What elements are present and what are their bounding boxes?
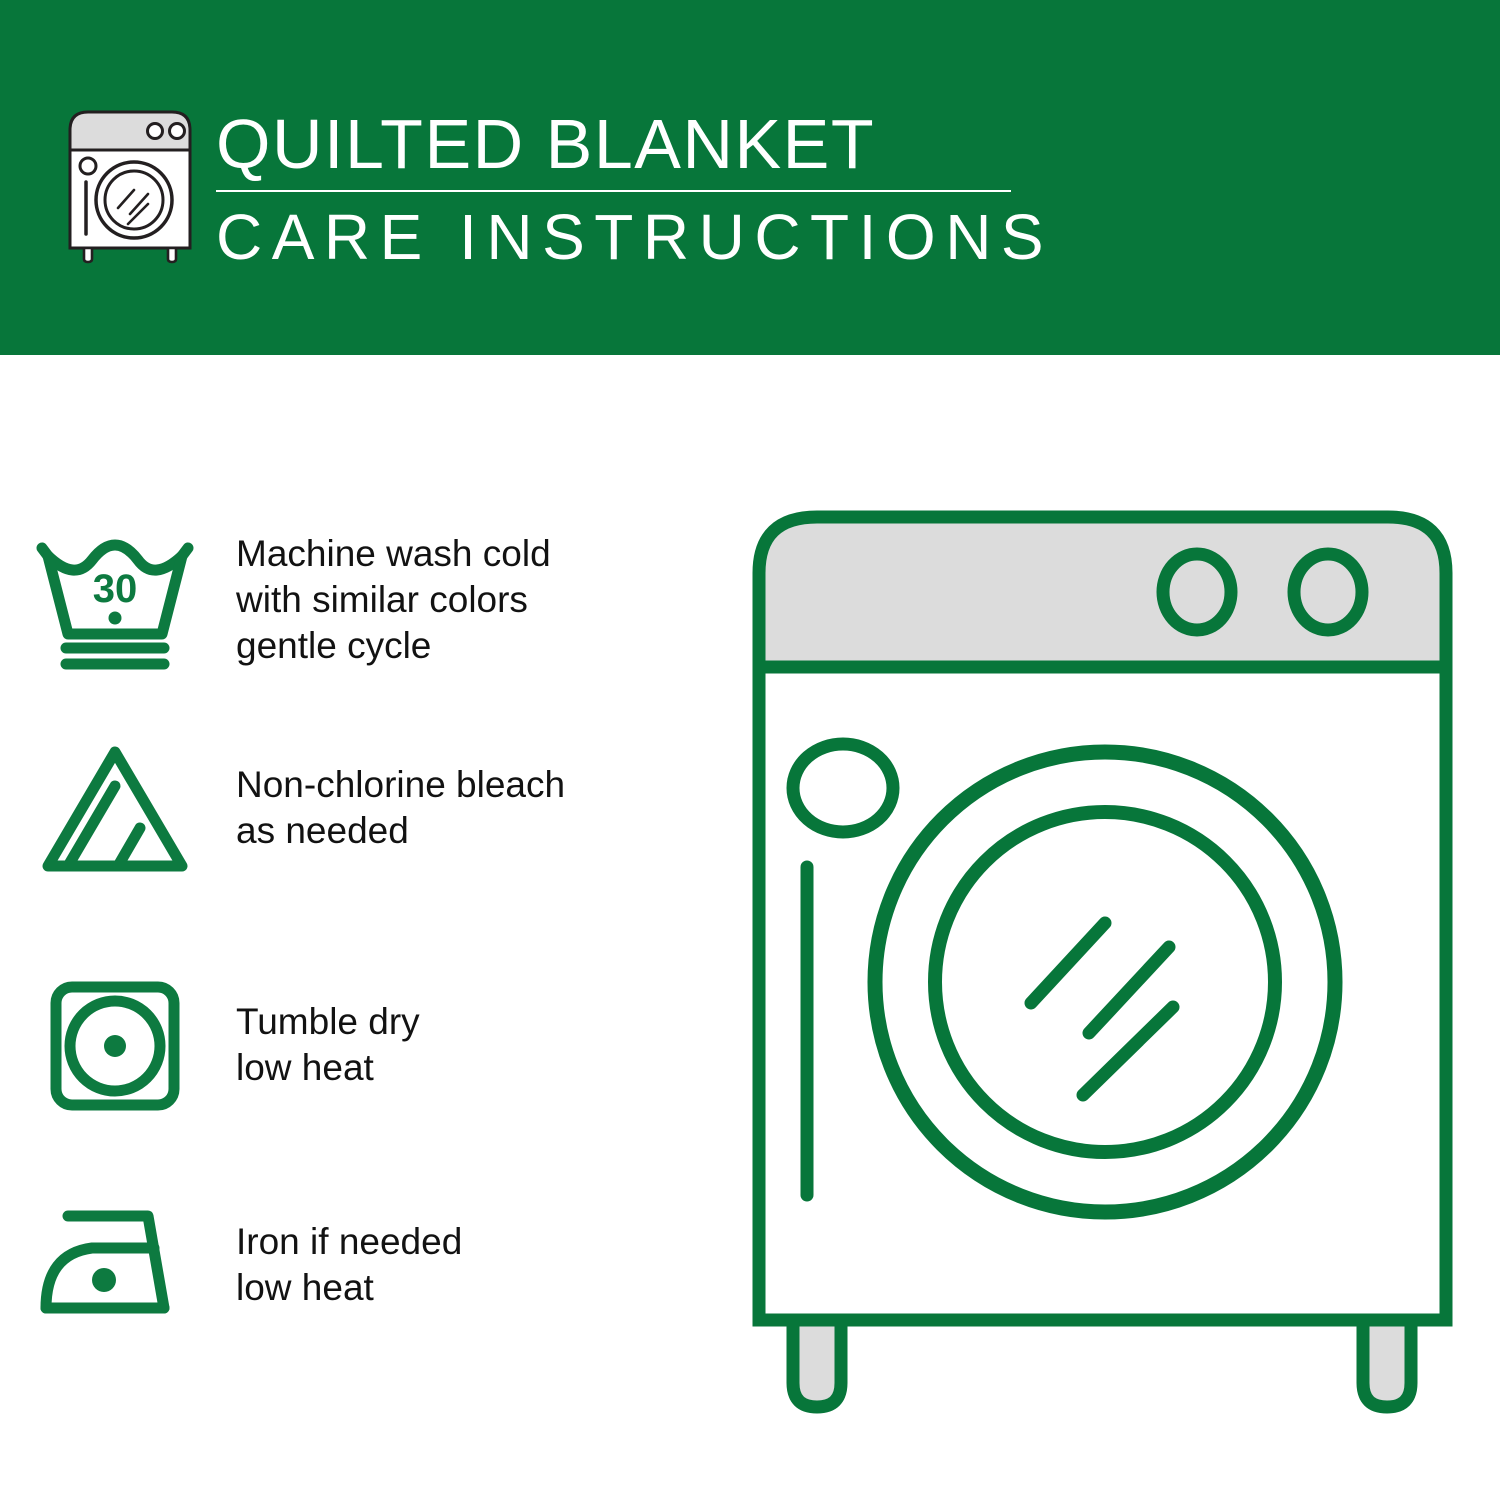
care-label: Non-chlorine bleach as needed	[230, 762, 565, 854]
wash-tub-30-icon: 30	[0, 530, 230, 670]
washing-machine-icon	[62, 104, 198, 264]
svg-text:30: 30	[93, 567, 138, 611]
care-label: Tumble dry low heat	[230, 999, 420, 1091]
header-text-block: QUILTED BLANKET CARE INSTRUCTIONS	[216, 104, 1016, 274]
page-title: QUILTED BLANKET	[216, 104, 1016, 184]
care-label: Machine wash cold with similar colors ge…	[230, 531, 551, 669]
care-label: Iron if needed low heat	[230, 1219, 462, 1311]
bleach-triangle-icon	[0, 738, 230, 878]
care-instruction-list: 30 Machine wash cold with similar colors…	[0, 355, 720, 1500]
front-load-washing-machine-illustration	[745, 495, 1460, 1430]
care-row: Tumble dry low heat	[0, 970, 720, 1120]
title-divider	[216, 190, 1011, 192]
page-subtitle: CARE INSTRUCTIONS	[216, 200, 1016, 274]
care-instructions-page: QUILTED BLANKET CARE INSTRUCTIONS 30	[0, 0, 1500, 1500]
tumble-dry-low-icon	[0, 975, 230, 1115]
header-banner: QUILTED BLANKET CARE INSTRUCTIONS	[0, 0, 1500, 355]
care-row: Iron if needed low heat	[0, 1195, 720, 1335]
care-row: Non-chlorine bleach as needed	[0, 730, 720, 885]
care-row: 30 Machine wash cold with similar colors…	[0, 515, 720, 685]
iron-low-heat-icon	[0, 1200, 230, 1330]
